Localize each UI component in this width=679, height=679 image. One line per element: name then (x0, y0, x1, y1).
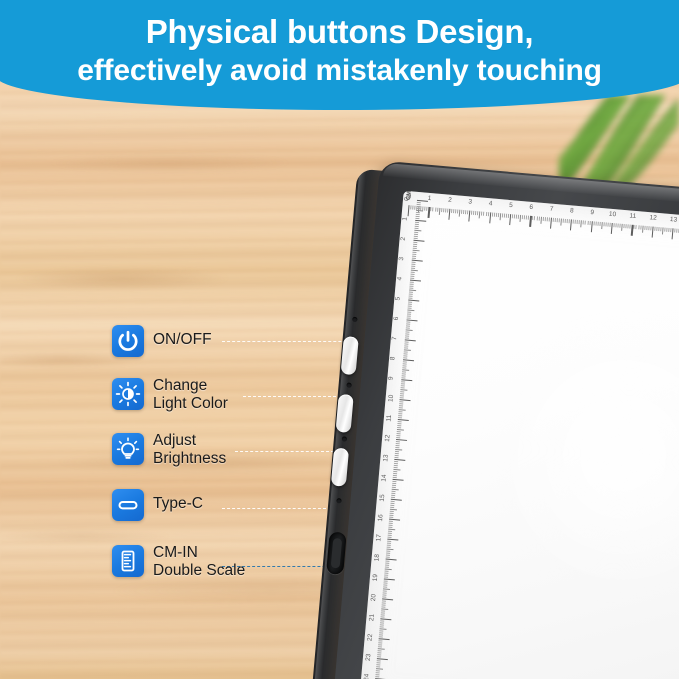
product-feature-infographic: CM 01234567891011121314151617 0123456789… (0, 0, 679, 679)
callout-list: ON/OFF (0, 0, 679, 679)
ruler-icon[interactable] (112, 545, 144, 577)
sun-half-icon[interactable] (112, 378, 144, 410)
callout-label-cm-in-double-scale: CM-IN Double Scale (153, 544, 245, 579)
callout-label-on-off: ON/OFF (153, 331, 212, 349)
light-bulb-icon[interactable] (112, 433, 144, 465)
callout-label-adjust-brightness: Adjust Brightness (153, 432, 226, 467)
power-icon[interactable] (112, 325, 144, 357)
callout-label-change-light-color: Change Light Color (153, 377, 228, 412)
usb-c-port-icon[interactable] (112, 489, 144, 521)
callout-label-type-c: Type-C (153, 495, 203, 513)
